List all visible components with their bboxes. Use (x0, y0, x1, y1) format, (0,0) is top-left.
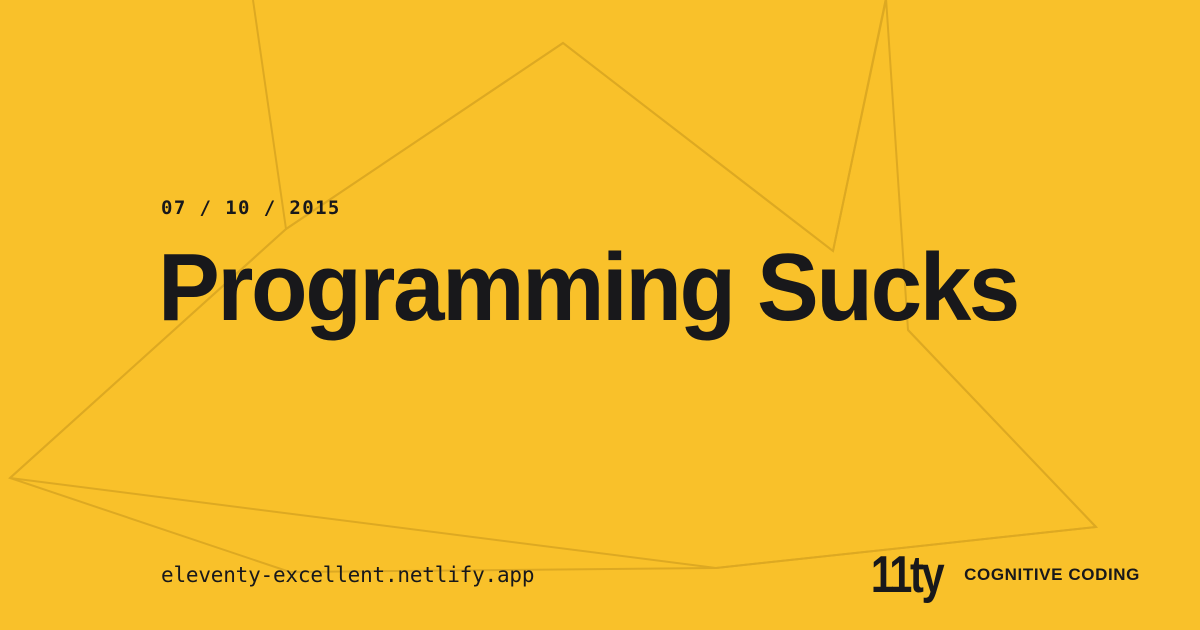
brand-lockup: 11ty COGNITIVE CODING (853, 549, 1140, 601)
eleventy-logo: 11ty (871, 549, 942, 601)
post-date: 07 / 10 / 2015 (161, 199, 341, 218)
page-title: Programming Sucks (158, 240, 1018, 336)
site-url: eleventy-excellent.netlify.app (161, 563, 534, 587)
card-footer: eleventy-excellent.netlify.app 11ty COGN… (0, 520, 1200, 630)
brand-tagline: COGNITIVE CODING (964, 565, 1140, 585)
social-share-card: 07 / 10 / 2015 Programming Sucks elevent… (0, 0, 1200, 630)
